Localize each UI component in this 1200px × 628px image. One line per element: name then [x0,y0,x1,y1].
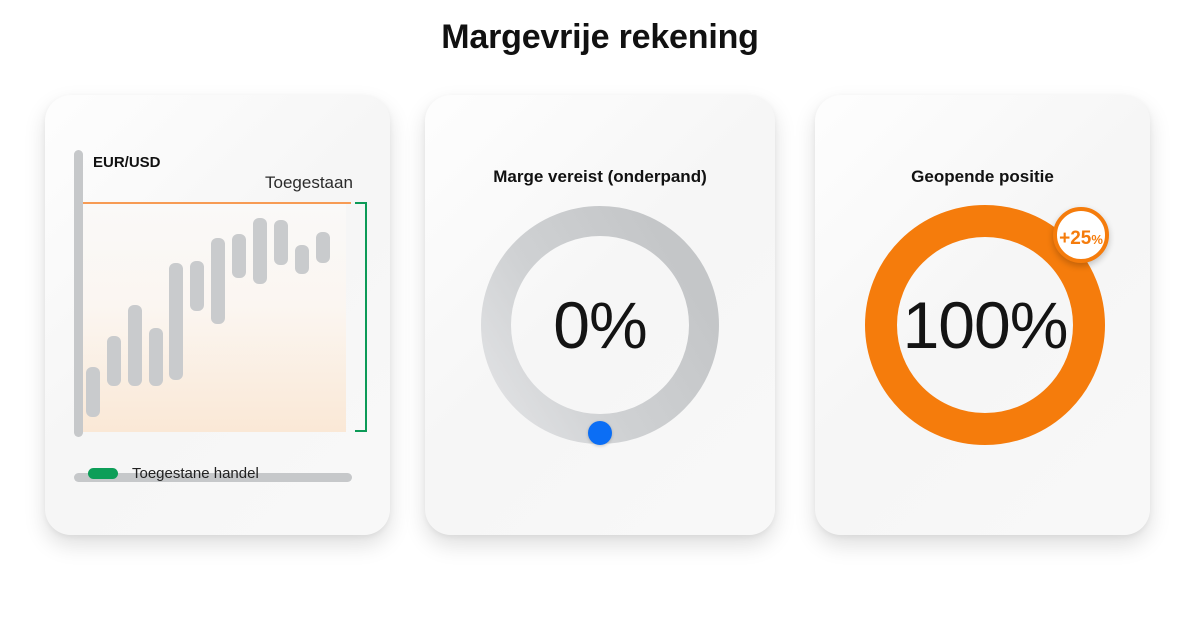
candle-bar [232,234,246,278]
threshold-label: Toegestaan [265,173,353,193]
card-eurusd-chart: EUR/USD Toegestaan Toegestane handel [45,95,390,535]
progress-knob-icon[interactable] [588,421,612,445]
candle-bar [253,218,267,285]
position-value: 100% [903,287,1068,363]
candle-bar [295,245,309,274]
margin-value-container: 0% [480,205,720,445]
margin-value: 0% [553,287,646,363]
candle-bar [211,238,225,323]
candle-bar [169,263,183,380]
candle-bar [316,232,330,263]
position-increase-badge: +25 % [1053,207,1109,263]
candlestick-chart: EUR/USD Toegestaan [73,145,363,495]
allowed-range-bracket [355,202,367,432]
badge-unit: % [1091,233,1103,246]
card-open-position: Geopende positie 100% +25 % [815,95,1150,535]
page-title: Margevrije rekening [0,18,1200,57]
candle-bar [128,305,142,386]
candle-bar [149,328,163,386]
legend-label: Toegestane handel [132,465,259,482]
candle-bar [107,336,121,386]
margin-donut-chart: 0% [480,205,720,445]
card-title-position: Geopende positie [815,167,1150,187]
chart-symbol-label: EUR/USD [93,154,161,171]
threshold-line [83,202,351,204]
badge-number: +25 [1059,229,1091,248]
position-donut-chart: 100% +25 % [865,205,1105,445]
chart-y-axis [74,150,83,437]
candle-bar [190,261,204,311]
chart-legend: Toegestane handel [88,465,259,482]
candle-bar [86,367,100,417]
card-margin-required: Marge vereist (onderpand) 0% [425,95,775,535]
legend-swatch-icon [88,468,118,479]
card-title-margin: Marge vereist (onderpand) [425,167,775,187]
candle-bar [274,220,288,266]
